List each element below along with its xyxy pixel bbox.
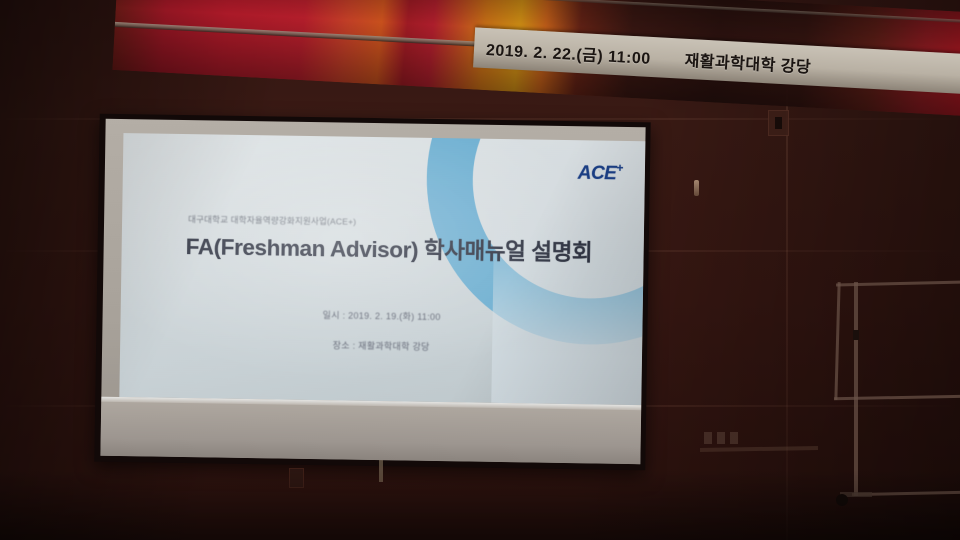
vent-slat <box>717 432 725 444</box>
projection-screen-frame: ACE+ 대구대학교 대학자율역량강화지원사업(ACE+) FA(Freshma… <box>94 114 650 471</box>
slide-title: FA(Freshman Advisor) 학사매뉴얼 설명회 <box>185 229 592 267</box>
projection-screen-surface: ACE+ 대구대학교 대학자율역량강화지원사업(ACE+) FA(Freshma… <box>100 119 645 464</box>
wall-vent <box>704 432 742 444</box>
rack-clip <box>853 330 859 340</box>
wall-outlet-hole <box>775 117 782 129</box>
ace-plus-logo: ACE+ <box>578 160 624 185</box>
rack-post-left <box>834 282 840 400</box>
rack-middle-bar <box>834 395 960 400</box>
screen-unlit-area <box>100 397 641 464</box>
wall-outlet-plate <box>768 110 789 136</box>
lecture-hall-photo: 2019. 2. 22.(금) 11:00 재활과학대학 강당 ACE+ 대구대… <box>0 0 960 540</box>
banner-venue: 재활과학대학 강당 <box>684 47 812 78</box>
door-handle[interactable] <box>694 180 699 196</box>
ace-logo-text: ACE <box>578 163 617 185</box>
vent-slat <box>730 432 738 444</box>
rack-post-main <box>854 282 858 496</box>
ace-logo-plus: + <box>616 161 623 175</box>
slide-eyebrow: 대구대학교 대학자율역량강화지원사업(ACE+) <box>188 213 356 228</box>
banner-datetime: 2019. 2. 22.(금) 11:00 <box>485 36 651 69</box>
projected-slide: ACE+ 대구대학교 대학자율역량강화지원사업(ACE+) FA(Freshma… <box>119 133 645 405</box>
vent-slat <box>704 432 712 444</box>
floor-shadow <box>0 470 960 540</box>
